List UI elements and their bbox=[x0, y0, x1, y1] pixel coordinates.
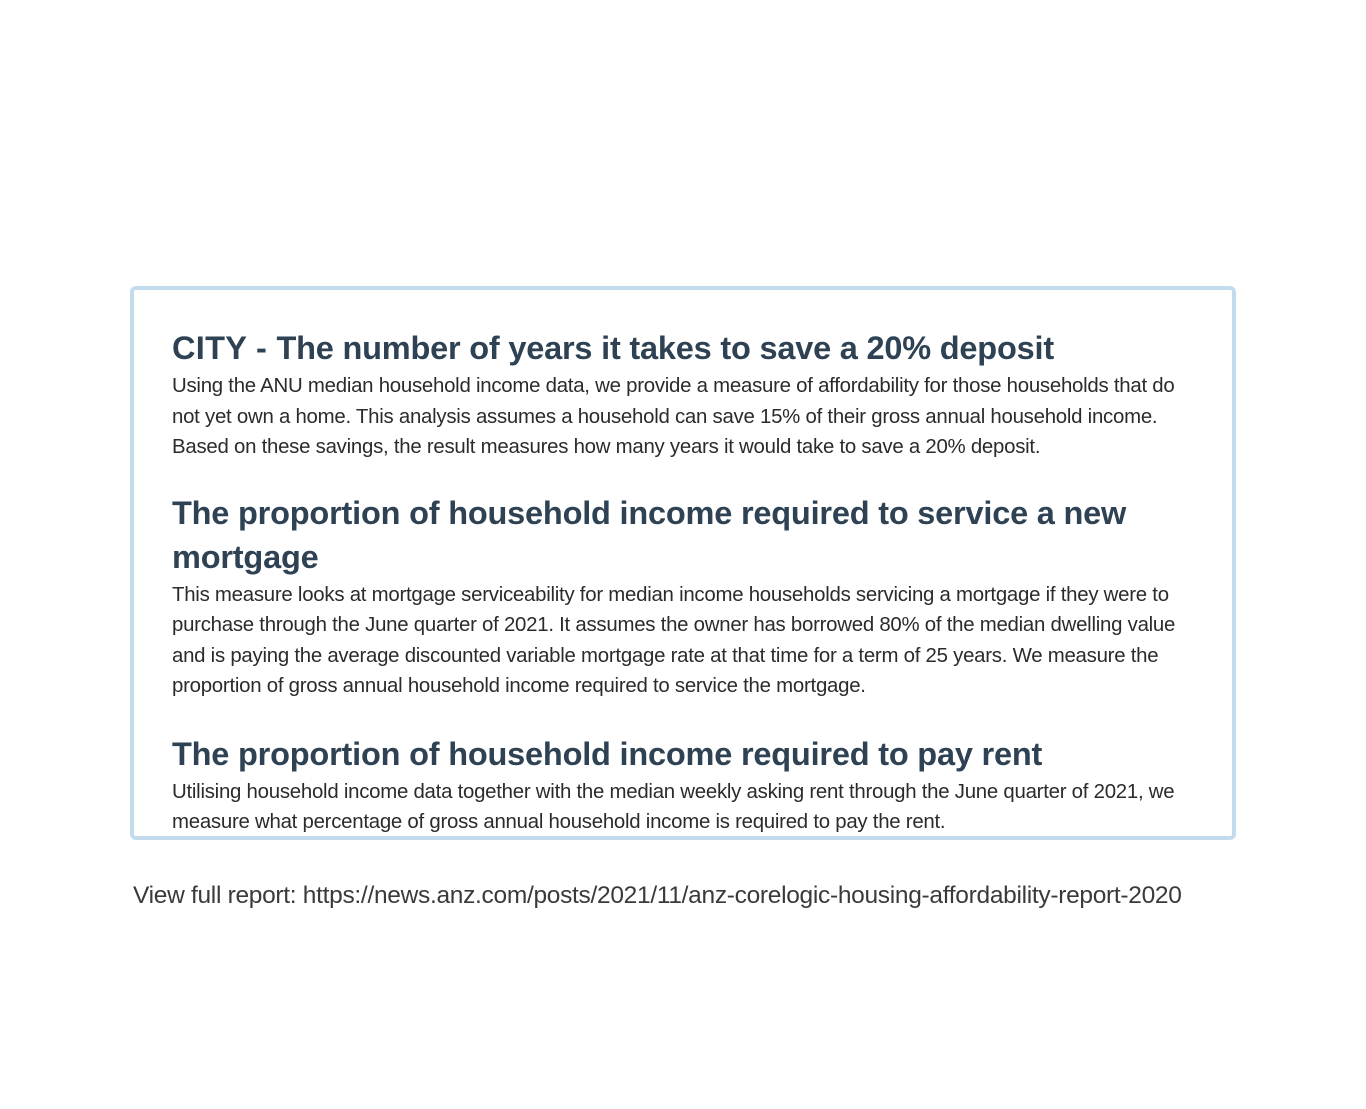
section-mortgage: The proportion of household income requi… bbox=[172, 491, 1194, 702]
section-deposit-body: Using the ANU median household income da… bbox=[172, 371, 1194, 463]
methodology-card: CITY - The number of years it takes to s… bbox=[130, 286, 1236, 840]
section-mortgage-heading: The proportion of household income requi… bbox=[172, 491, 1194, 579]
section-rent-body: Utilising household income data together… bbox=[172, 777, 1194, 838]
report-link[interactable]: View full report: https://news.anz.com/p… bbox=[133, 879, 1182, 913]
section-deposit-heading: CITY - The number of years it takes to s… bbox=[172, 326, 1194, 370]
section-rent: The proportion of household income requi… bbox=[172, 732, 1194, 838]
section-rent-heading: The proportion of household income requi… bbox=[172, 732, 1194, 776]
section-mortgage-body: This measure looks at mortgage serviceab… bbox=[172, 580, 1194, 702]
section-deposit: CITY - The number of years it takes to s… bbox=[172, 326, 1194, 463]
section-deposit-heading-rest: The number of years it takes to save a 2… bbox=[276, 330, 1054, 366]
section-deposit-heading-lead: CITY - bbox=[172, 330, 276, 366]
